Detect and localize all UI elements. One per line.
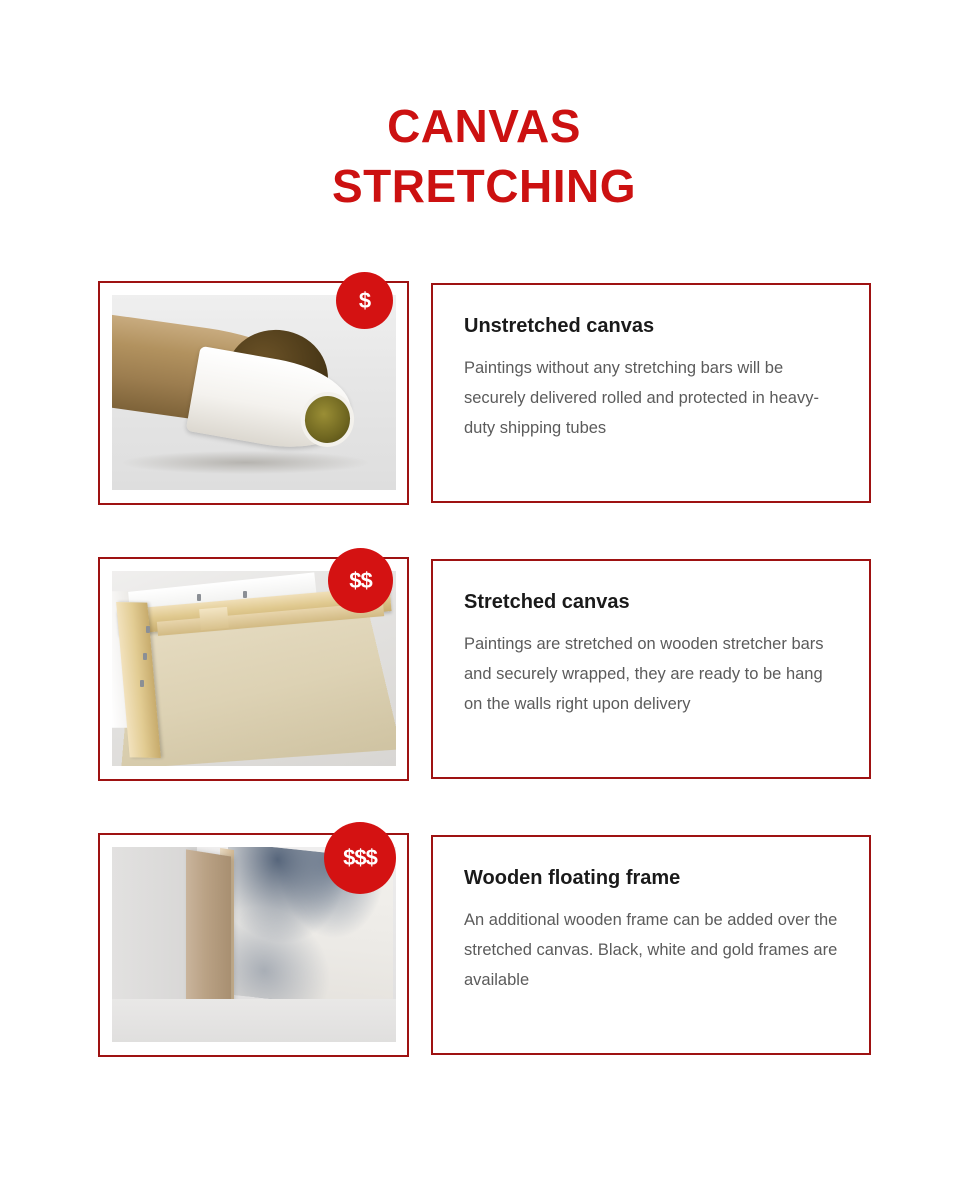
text-card-stretched-canvas: Stretched canvas Paintings are stretched… [431, 559, 871, 779]
option-row-stretched-canvas: $$ Stretched canvas Paintings are stretc… [0, 557, 968, 783]
staple-shape [143, 653, 147, 660]
staple-shape [146, 626, 150, 633]
option-row-unstretched-canvas: $ Unstretched canvas Paintings without a… [0, 281, 968, 507]
card-body-3: An additional wooden frame can be added … [464, 905, 843, 995]
price-badge-1: $ [336, 272, 393, 329]
price-badge-3: $$$ [324, 822, 396, 894]
stretcher-wedge-shape [199, 607, 229, 631]
floor-shape [112, 999, 396, 1042]
card-body-1: Paintings without any stretching bars wi… [464, 353, 843, 443]
card-heading-3: Wooden floating frame [464, 865, 843, 891]
price-badge-2: $$ [328, 548, 393, 613]
page-title-line-2: STRETCHING [0, 156, 968, 216]
canvas-stretching-infographic: CANVAS STRETCHING $ Unstretched canvas P… [0, 0, 968, 1182]
staple-shape [140, 680, 144, 687]
staple-shape [243, 591, 247, 598]
card-body-2: Paintings are stretched on wooden stretc… [464, 629, 843, 719]
card-heading-1: Unstretched canvas [464, 313, 843, 339]
text-card-wooden-floating-frame: Wooden floating frame An additional wood… [431, 835, 871, 1055]
staple-shape [197, 594, 201, 601]
page-title: CANVAS STRETCHING [0, 96, 968, 216]
page-title-line-1: CANVAS [0, 96, 968, 156]
option-row-wooden-floating-frame: $$$ Wooden floating frame An additional … [0, 833, 968, 1059]
photo-shadow [123, 451, 367, 474]
text-card-unstretched-canvas: Unstretched canvas Paintings without any… [431, 283, 871, 503]
card-heading-2: Stretched canvas [464, 589, 843, 615]
